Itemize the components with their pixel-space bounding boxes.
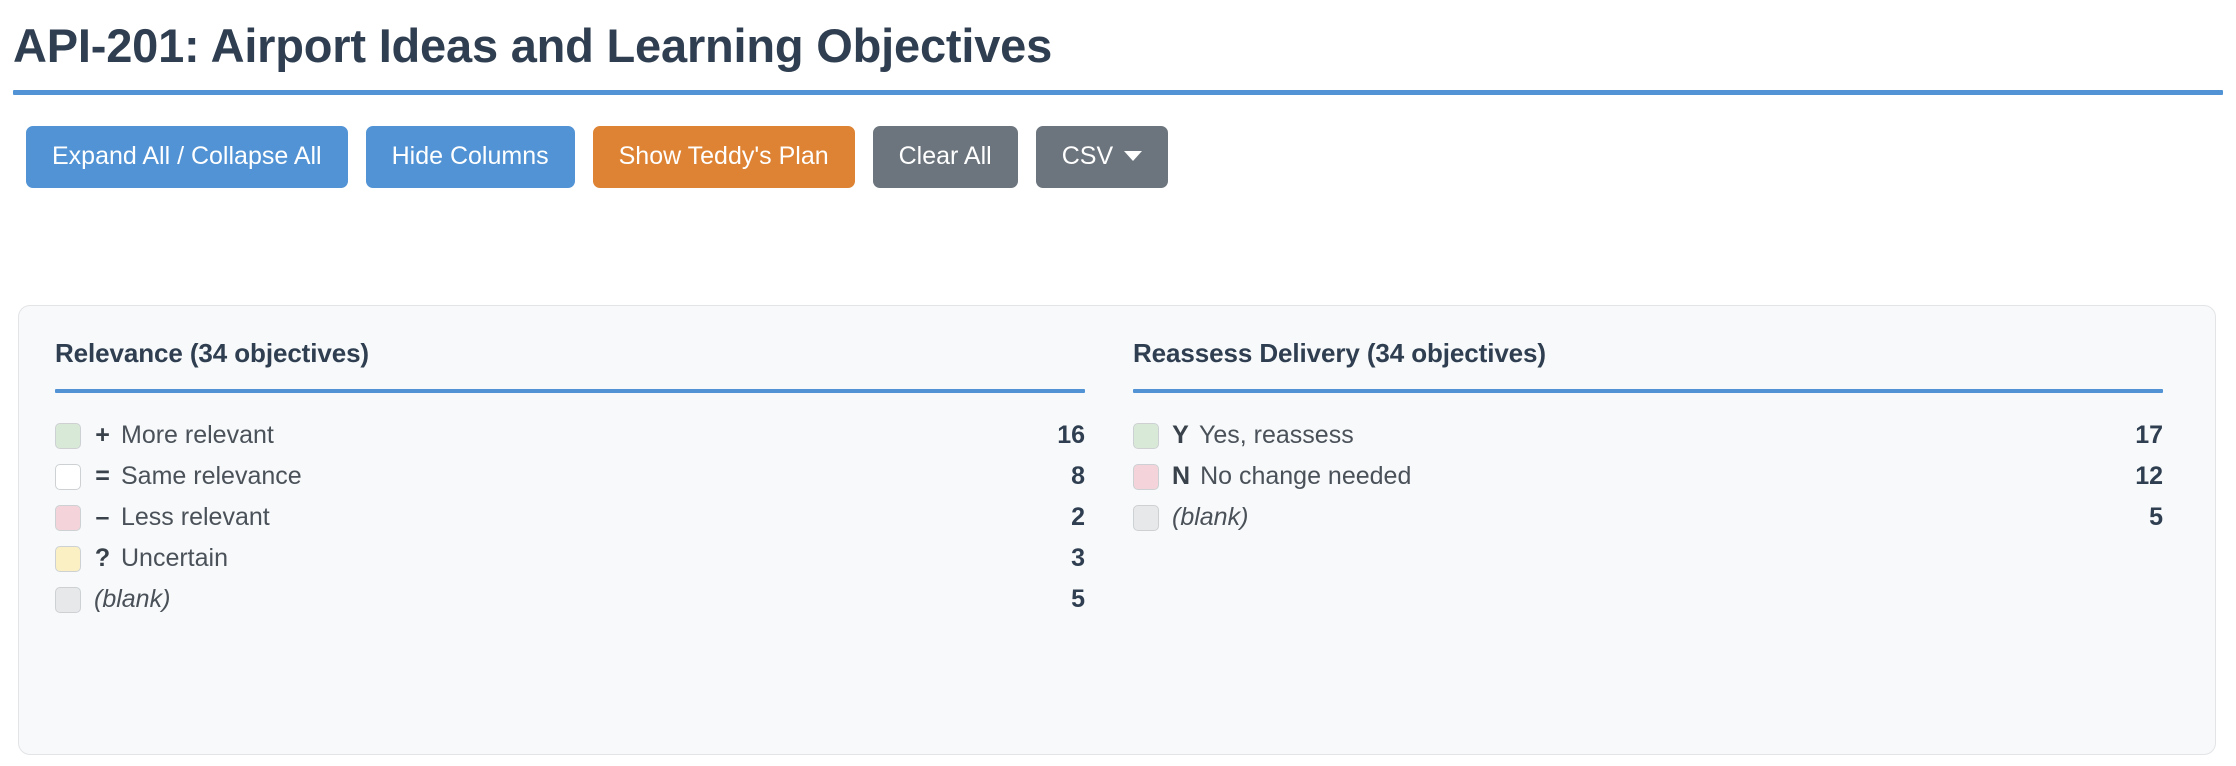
row-label: Same relevance: [121, 462, 302, 491]
row-count: 17: [2135, 421, 2163, 450]
summary-panel: Relevance (34 objectives)+More relevant1…: [18, 305, 2216, 755]
row-count: 2: [1071, 503, 1085, 532]
summary-row-list: YYes, reassess17NNo change needed12(blan…: [1133, 415, 2163, 538]
row-label: Less relevant: [121, 503, 270, 532]
summary-row[interactable]: (blank)5: [55, 579, 1085, 620]
summary-row[interactable]: +More relevant16: [55, 415, 1085, 456]
row-count: 8: [1071, 462, 1085, 491]
button-label: Clear All: [899, 142, 992, 170]
row-label: No change needed: [1200, 462, 1411, 491]
row-symbol: +: [94, 421, 111, 450]
color-swatch: [55, 464, 81, 490]
summary-column: Reassess Delivery (34 objectives)YYes, r…: [1133, 338, 2163, 754]
color-swatch: [55, 587, 81, 613]
toolbar: Expand All / Collapse AllHide ColumnsSho…: [13, 126, 2223, 188]
row-label: Yes, reassess: [1199, 421, 1354, 450]
button-label: Expand All / Collapse All: [52, 142, 322, 170]
page-title: API-201: Airport Ideas and Learning Obje…: [13, 0, 2223, 73]
summary-column-title: Reassess Delivery (34 objectives): [1133, 338, 2163, 369]
row-label: More relevant: [121, 421, 274, 450]
toolbar-button-clear-all[interactable]: Clear All: [873, 126, 1018, 188]
page-root: API-201: Airport Ideas and Learning Obje…: [0, 0, 2236, 766]
summary-row[interactable]: –Less relevant2: [55, 497, 1085, 538]
summary-column: Relevance (34 objectives)+More relevant1…: [55, 338, 1085, 754]
summary-row[interactable]: YYes, reassess17: [1133, 415, 2163, 456]
row-count: 12: [2135, 462, 2163, 491]
summary-row[interactable]: NNo change needed12: [1133, 456, 2163, 497]
row-symbol: Y: [1172, 421, 1189, 450]
chevron-down-icon: [1124, 151, 1142, 161]
row-count: 3: [1071, 544, 1085, 573]
row-count: 16: [1057, 421, 1085, 450]
summary-row[interactable]: (blank)5: [1133, 497, 2163, 538]
row-symbol: –: [94, 503, 111, 532]
row-label: (blank): [1172, 503, 1248, 532]
summary-row[interactable]: =Same relevance8: [55, 456, 1085, 497]
button-label: Hide Columns: [392, 142, 549, 170]
row-label: Uncertain: [121, 544, 228, 573]
toolbar-button-show-teddy-s-plan[interactable]: Show Teddy's Plan: [593, 126, 855, 188]
color-swatch: [1133, 423, 1159, 449]
color-swatch: [55, 423, 81, 449]
button-label: Show Teddy's Plan: [619, 142, 829, 170]
color-swatch: [1133, 464, 1159, 490]
toolbar-button-expand-all-collapse-all[interactable]: Expand All / Collapse All: [26, 126, 348, 188]
row-label: (blank): [94, 585, 170, 614]
summary-column-divider: [1133, 389, 2163, 393]
row-symbol: N: [1172, 462, 1190, 491]
summary-column-title: Relevance (34 objectives): [55, 338, 1085, 369]
row-count: 5: [2149, 503, 2163, 532]
button-label: CSV: [1062, 142, 1113, 170]
color-swatch: [55, 546, 81, 572]
summary-column-divider: [55, 389, 1085, 393]
summary-row-list: +More relevant16=Same relevance8–Less re…: [55, 415, 1085, 620]
summary-row[interactable]: ?Uncertain3: [55, 538, 1085, 579]
row-symbol: ?: [94, 544, 111, 573]
color-swatch: [1133, 505, 1159, 531]
row-count: 5: [1071, 585, 1085, 614]
row-symbol: =: [94, 462, 111, 491]
toolbar-button-csv[interactable]: CSV: [1036, 126, 1168, 188]
toolbar-button-hide-columns[interactable]: Hide Columns: [366, 126, 575, 188]
title-divider: [13, 90, 2223, 95]
color-swatch: [55, 505, 81, 531]
